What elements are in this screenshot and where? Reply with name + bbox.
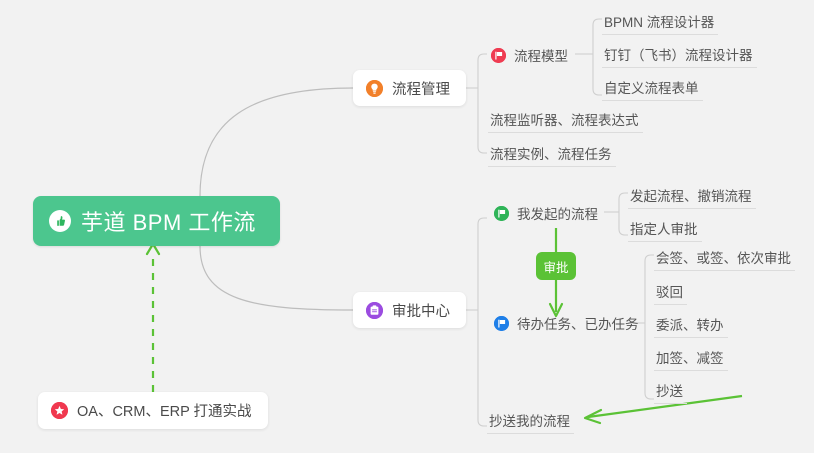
topic-node-my-initiated[interactable]: 我发起的流程 (494, 200, 598, 226)
star-icon (51, 402, 68, 419)
topic-node-process-model[interactable]: 流程模型 (491, 42, 568, 68)
topic-label: 我发起的流程 (517, 203, 598, 223)
thumbs-up-icon (49, 210, 71, 232)
topic-label: 流程模型 (514, 45, 568, 65)
leaf-node[interactable]: BPMN 流程设计器 (602, 8, 718, 35)
root-label: 芋道 BPM 工作流 (81, 205, 256, 237)
mindmap-canvas: 芋道 BPM 工作流 流程管理 审批中心 (0, 0, 814, 453)
leaf-node[interactable]: 钉钉（飞书）流程设计器 (602, 41, 757, 68)
leaf-node[interactable]: 发起流程、撤销流程 (628, 182, 756, 209)
topic-node-tasks[interactable]: 待办任务、已办任务 (494, 310, 639, 336)
branch-label: 流程管理 (392, 78, 450, 99)
leaf-node[interactable]: 流程实例、流程任务 (488, 140, 616, 167)
approval-tag[interactable]: 审批 (536, 252, 576, 280)
root-node[interactable]: 芋道 BPM 工作流 (33, 196, 280, 246)
clipboard-icon (366, 302, 383, 319)
callout-arrow (147, 244, 159, 392)
leaf-node[interactable]: 会签、或签、依次审批 (654, 244, 795, 271)
flag-icon (491, 48, 506, 63)
leaf-node[interactable]: 加签、减签 (654, 344, 728, 371)
leaf-node[interactable]: 流程监听器、流程表达式 (488, 106, 643, 133)
leaf-node[interactable]: 驳回 (654, 278, 687, 305)
leaf-node[interactable]: 委派、转办 (654, 311, 728, 338)
leaf-node[interactable]: 抄送我的流程 (487, 407, 574, 434)
branch-node-process-management[interactable]: 流程管理 (353, 70, 466, 106)
flag-icon (494, 316, 509, 331)
leaf-node[interactable]: 指定人审批 (628, 215, 702, 242)
callout-label: OA、CRM、ERP 打通实战 (77, 400, 252, 421)
leaf-node[interactable]: 自定义流程表单 (602, 74, 703, 101)
leaf-node[interactable]: 抄送 (654, 377, 687, 404)
topic-label: 待办任务、已办任务 (517, 313, 639, 333)
branch-label: 审批中心 (392, 300, 450, 321)
flag-icon (494, 206, 509, 221)
callout-node-integration[interactable]: OA、CRM、ERP 打通实战 (38, 392, 268, 429)
lightbulb-icon (366, 80, 383, 97)
branch-node-approval-center[interactable]: 审批中心 (353, 292, 466, 328)
